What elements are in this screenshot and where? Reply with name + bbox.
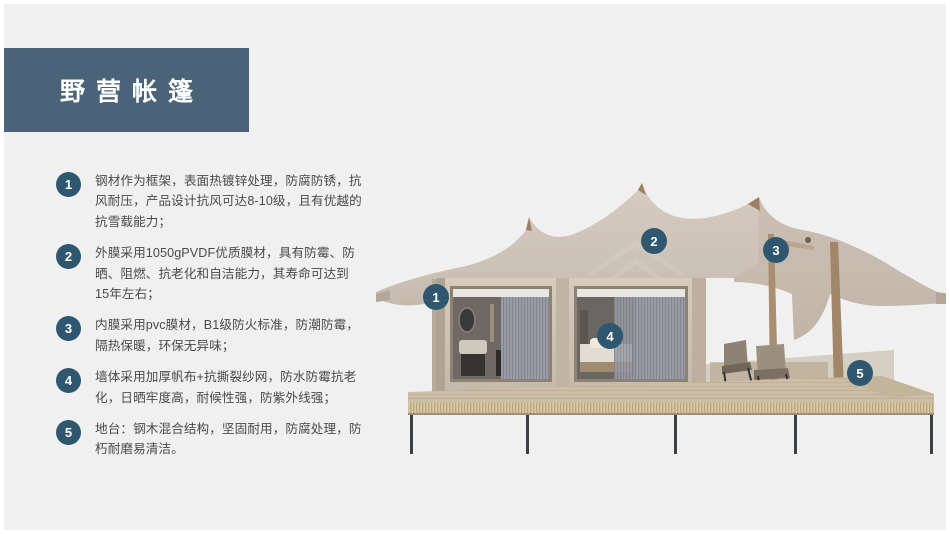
- feature-text-1: 钢材作为框架，表面热镀锌处理，防腐防锈，抗风耐压，产品设计抗风可达8-10级，且…: [95, 171, 363, 232]
- hotspot-badge-4[interactable]: 4: [597, 323, 623, 349]
- title-banner: 野营帐篷: [4, 48, 249, 132]
- hotspot-badge-1[interactable]: 1: [423, 284, 449, 310]
- deck-leg-2: [526, 415, 529, 454]
- window-right: [574, 286, 688, 382]
- feature-badge-5: 5: [56, 420, 81, 445]
- feature-badge-4: 4: [56, 368, 81, 393]
- bathroom-fixture: [490, 304, 494, 342]
- hotspot-badge-5[interactable]: 5: [847, 360, 873, 386]
- wall-post-middle: [556, 278, 569, 392]
- wall-post-right: [692, 278, 706, 392]
- hanging-lamp: [805, 237, 811, 243]
- feature-text-3: 内膜采用pvc膜材，B1级防火标准，防潮防霉，隔热保暖，环保无异味；: [95, 315, 363, 356]
- deck-leg-3: [674, 415, 677, 454]
- slide-canvas: 野营帐篷 1 钢材作为框架，表面热镀锌处理，防腐防锈，抗风耐压，产品设计抗风可达…: [0, 0, 950, 534]
- feature-badge-1: 1: [56, 172, 81, 197]
- curtain-left: [501, 297, 549, 379]
- bathroom-mirror: [459, 308, 475, 332]
- feature-badge-3: 3: [56, 316, 81, 341]
- feature-badge-2: 2: [56, 244, 81, 269]
- tent-illustration: [374, 154, 950, 454]
- deck-leg-1: [410, 415, 413, 454]
- feature-item-4: 4 墙体采用加厚帆布+抗撕裂纱网，防水防霉抗老化，日晒牢度高，耐候性强，防紫外线…: [56, 367, 376, 408]
- curtain-right: [635, 297, 685, 379]
- guy-anchor-right: [936, 292, 950, 304]
- deck-leg-4: [794, 415, 797, 454]
- hotspot-badge-3[interactable]: 3: [763, 237, 789, 263]
- feature-item-2: 2 外膜采用1050gPVDF优质膜材，具有防霉、防晒、阻燃、抗老化和自洁能力，…: [56, 243, 376, 304]
- feature-list: 1 钢材作为框架，表面热镀锌处理，防腐防锈，抗风耐压，产品设计抗风可达8-10级…: [56, 171, 376, 471]
- roof-shading-right: [734, 197, 950, 340]
- deck-leg-5: [930, 415, 933, 454]
- deck-edge-fascia: [408, 402, 934, 413]
- deck-edge-shadow: [408, 413, 934, 415]
- hotspot-badge-2[interactable]: 2: [641, 228, 667, 254]
- window-left: [450, 286, 552, 382]
- feature-item-3: 3 内膜采用pvc膜材，B1级防火标准，防潮防霉，隔热保暖，环保无异味；: [56, 315, 376, 356]
- feature-text-5: 地台：钢木混合结构，坚固耐用，防腐处理，防朽耐磨易清洁。: [95, 419, 363, 460]
- bathroom-cabinet: [461, 354, 485, 376]
- feature-text-4: 墙体采用加厚帆布+抗撕裂纱网，防水防霉抗老化，日晒牢度高，耐候性强，防紫外线强；: [95, 367, 363, 408]
- tent-render-svg: [374, 154, 950, 454]
- page-title: 野营帐篷: [49, 72, 204, 108]
- feature-item-1: 1 钢材作为框架，表面热镀锌处理，防腐防锈，抗风耐压，产品设计抗风可达8-10级…: [56, 171, 376, 232]
- bathroom-vanity: [459, 340, 487, 354]
- feature-item-5: 5 地台：钢木混合结构，坚固耐用，防腐处理，防朽耐磨易清洁。: [56, 419, 376, 460]
- feature-text-2: 外膜采用1050gPVDF优质膜材，具有防霉、防晒、阻燃、抗老化和自洁能力，其寿…: [95, 243, 363, 304]
